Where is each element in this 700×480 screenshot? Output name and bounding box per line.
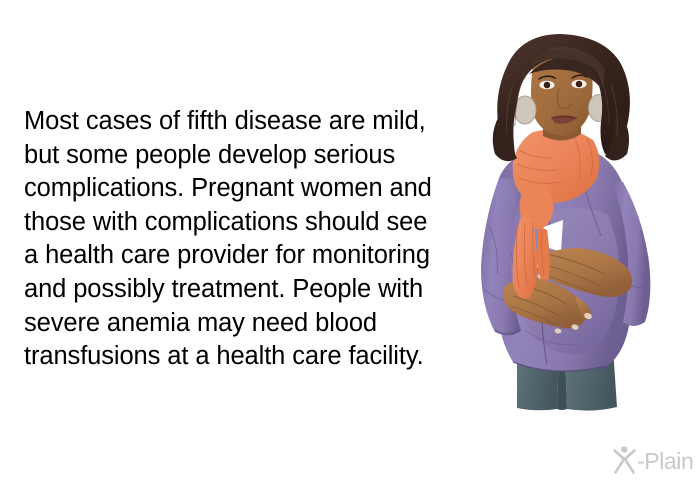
figure-group bbox=[481, 34, 650, 411]
x-plain-logo-text: -Plain bbox=[637, 450, 693, 473]
slide-canvas: Most cases of fifth disease are mild, bu… bbox=[0, 0, 700, 480]
x-plain-figure-icon bbox=[612, 444, 638, 474]
pregnant-woman-illustration bbox=[455, 30, 690, 420]
body-text: Most cases of fifth disease are mild, bu… bbox=[24, 105, 469, 374]
x-plain-logo: -Plain bbox=[612, 442, 696, 476]
